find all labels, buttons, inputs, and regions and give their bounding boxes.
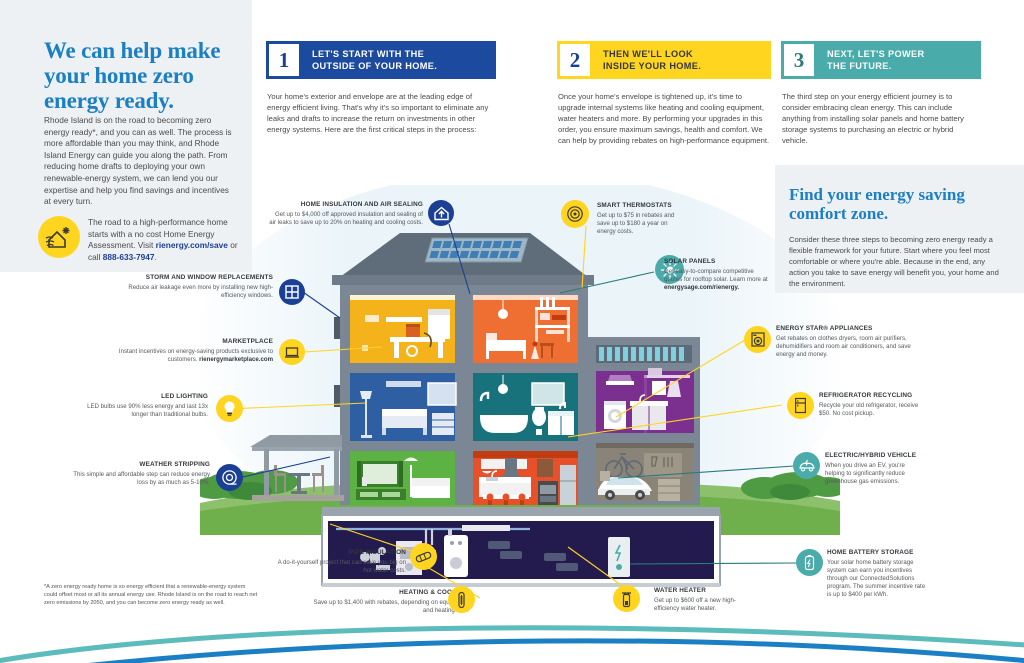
callout-storm-windows-body: Reduce air leakage even more by installi…: [120, 284, 273, 300]
laptop-icon[interactable]: [279, 339, 305, 365]
step-3-title-line1: NEXT, LET'S POWER: [827, 48, 980, 60]
water-heater-icon[interactable]: [613, 585, 640, 612]
step-2-title-line1: THEN WE'LL LOOK: [603, 48, 770, 60]
callout-water-heater: WATER HEATER Get up to $600 off a new hi…: [654, 587, 759, 613]
tape-roll-icon[interactable]: [216, 464, 243, 491]
cta-phone[interactable]: 888-633-7947: [103, 252, 155, 262]
cta-end: .: [154, 252, 156, 262]
step-2: 2 THEN WE'LL LOOK INSIDE YOUR HOME. Once…: [558, 42, 770, 146]
infographic-page: We can help make your home zero energy r…: [0, 0, 1024, 663]
callout-solar-panels-title: SOLAR PANELS: [664, 258, 768, 266]
callout-storm-windows-title: STORM AND WINDOW REPLACEMENTS: [120, 274, 273, 282]
callout-ev-title: ELECTRIC/HYBRID VEHICLE: [825, 452, 925, 460]
step-2-title: THEN WE'LL LOOK INSIDE YOUR HOME.: [592, 42, 770, 78]
footnote: *A zero energy ready home is so energy e…: [44, 583, 259, 607]
callout-weather-stripping: WEATHER STRIPPING This simple and afford…: [62, 461, 210, 487]
battery-icon[interactable]: [796, 549, 823, 576]
callout-led-lighting: LED LIGHTING LED bulbs use 90% less ener…: [82, 393, 208, 419]
callout-energy-star-title: ENERGY STAR® APPLIANCES: [776, 325, 928, 333]
step-3-title-line2: THE FUTURE.: [827, 60, 980, 72]
callout-refrigerator-recycling: REFRIGERATOR RECYCLING Recycle your old …: [819, 392, 929, 418]
step-1-title-line2: OUTSIDE OF YOUR HOME.: [312, 60, 495, 72]
page-title: We can help make your home zero energy r…: [44, 38, 244, 113]
house-arrow-up-icon[interactable]: [428, 200, 454, 226]
callout-smart-thermostats-body: Get up to $75 in rebates and save up to …: [597, 212, 683, 236]
step-3: 3 NEXT, LET'S POWER THE FUTURE. The thir…: [782, 42, 980, 146]
step-1-title-line1: LET'S START WITH THE: [312, 48, 495, 60]
step-2-body: Once your home's envelope is tightened u…: [558, 91, 770, 146]
callout-solar-panels: SOLAR PANELS Get easy-to-compare competi…: [664, 258, 768, 292]
callout-marketplace: MARKETPLACE Instant incentives on energy…: [118, 338, 273, 364]
callout-home-battery: HOME BATTERY STORAGE Your solar home bat…: [827, 549, 927, 599]
callout-smart-thermostats: SMART THERMOSTATS Get up to $75 in rebat…: [597, 202, 683, 236]
step-1-body: Your home's exterior and envelope are at…: [267, 91, 495, 135]
callout-marketplace-url[interactable]: rienergymarketplace.com: [199, 356, 273, 363]
callout-pipe-insulation-body: A do-it-yourself project that can save y…: [272, 559, 406, 575]
comfort-zone-panel: Find your energy saving comfort zone. Co…: [775, 165, 1024, 293]
step-1-number: 1: [267, 42, 301, 78]
callout-energy-star: ENERGY STAR® APPLIANCES Get rebates on c…: [776, 325, 928, 359]
step-2-title-line2: INSIDE YOUR HOME.: [603, 60, 770, 72]
step-1-title: LET'S START WITH THE OUTSIDE OF YOUR HOM…: [301, 42, 495, 78]
callout-home-insulation: HOME INSULATION AND AIR SEALING Get up t…: [268, 201, 423, 227]
window-icon[interactable]: [279, 279, 305, 305]
callout-solar-panels-url[interactable]: energysage.com/rienergy.: [664, 284, 739, 291]
callout-home-insulation-title: HOME INSULATION AND AIR SEALING: [268, 201, 423, 209]
callout-marketplace-title: MARKETPLACE: [118, 338, 273, 346]
ev-car-icon[interactable]: [793, 452, 820, 479]
callout-water-heater-title: WATER HEATER: [654, 587, 759, 595]
callout-refrigerator-recycling-body: Recycle your old refrigerator, receive $…: [819, 402, 929, 418]
house-energy-icon: [38, 216, 80, 258]
intro-body: Rhode Island is on the road to becoming …: [44, 115, 236, 208]
thermometer-icon[interactable]: [448, 586, 475, 613]
callout-pipe-insulation: PIPE INSULATION A do-it-yourself project…: [272, 549, 406, 575]
callout-weather-stripping-title: WEATHER STRIPPING: [62, 461, 210, 469]
step-3-header: 3 NEXT, LET'S POWER THE FUTURE.: [782, 42, 980, 78]
callout-water-heater-body: Get up to $600 off a new high-efficiency…: [654, 597, 759, 613]
step-2-header: 2 THEN WE'LL LOOK INSIDE YOUR HOME.: [558, 42, 770, 78]
step-2-number: 2: [558, 42, 592, 78]
bottom-arcs: [0, 618, 1024, 663]
callout-energy-star-body: Get rebates on clothes dryers, room air …: [776, 335, 928, 359]
callout-ev-body: When you drive an EV, you're helping to …: [825, 462, 925, 486]
callout-led-lighting-title: LED LIGHTING: [82, 393, 208, 401]
callout-home-battery-title: HOME BATTERY STORAGE: [827, 549, 927, 557]
callout-home-insulation-body: Get up to $4,000 off approved insulation…: [268, 211, 423, 227]
callout-heating-cooling: HEATING & COOLING Save up to $1,400 with…: [310, 589, 468, 615]
cta-url[interactable]: rienergy.com/save: [156, 240, 228, 250]
callout-refrigerator-recycling-title: REFRIGERATOR RECYCLING: [819, 392, 929, 400]
callout-heating-cooling-title: HEATING & COOLING: [310, 589, 468, 597]
callout-ev: ELECTRIC/HYBRID VEHICLE When you drive a…: [825, 452, 925, 486]
step-3-title: NEXT, LET'S POWER THE FUTURE.: [816, 42, 980, 78]
step-1: 1 LET'S START WITH THE OUTSIDE OF YOUR H…: [267, 42, 495, 135]
callout-solar-panels-body-text: Get easy-to-compare competitive quotes f…: [664, 268, 768, 283]
callout-solar-panels-body: Get easy-to-compare competitive quotes f…: [664, 268, 768, 292]
step-3-number: 3: [782, 42, 816, 78]
washing-machine-icon[interactable]: [744, 326, 771, 353]
step-1-header: 1 LET'S START WITH THE OUTSIDE OF YOUR H…: [267, 42, 495, 78]
comfort-zone-title: Find your energy saving comfort zone.: [789, 185, 1000, 223]
intro-cta-text: The road to a high-performance home star…: [88, 217, 246, 263]
callout-pipe-insulation-title: PIPE INSULATION: [272, 549, 406, 557]
lightbulb-icon[interactable]: [216, 395, 243, 422]
callout-storm-windows: STORM AND WINDOW REPLACEMENTS Reduce air…: [120, 274, 273, 300]
step-3-body: The third step on your energy efficient …: [782, 91, 980, 146]
callout-smart-thermostats-title: SMART THERMOSTATS: [597, 202, 683, 210]
pipe-icon[interactable]: [410, 543, 437, 570]
callout-heating-cooling-body: Save up to $1,400 with rebates, dependin…: [310, 599, 468, 615]
callout-marketplace-body: Instant incentives on energy-saving prod…: [118, 348, 273, 364]
callout-home-battery-body: Your solar home battery storage system c…: [827, 559, 927, 599]
thermostat-dial-icon[interactable]: [561, 200, 589, 228]
callout-weather-stripping-body: This simple and affordable step can redu…: [62, 471, 210, 487]
comfort-zone-body: Consider these three steps to becoming z…: [789, 234, 1000, 289]
callout-led-lighting-body: LED bulbs use 90% less energy and last 1…: [82, 403, 208, 419]
refrigerator-icon[interactable]: [787, 392, 814, 419]
